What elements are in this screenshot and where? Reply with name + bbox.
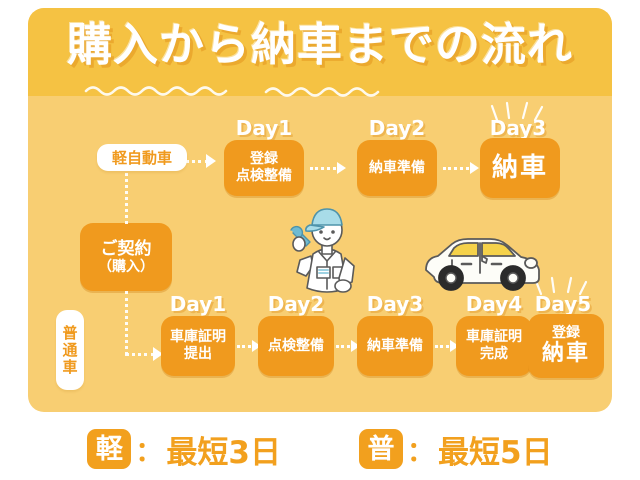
kei-step-2-box: 納車準備 xyxy=(357,140,437,196)
futsu-step-3-box: 納車準備 xyxy=(357,316,433,376)
infographic-root: 購入から納車までの流れ ご契約 （購入） 軽自動車 普通車 Day1 xyxy=(0,0,640,480)
summary-bar: 軽 ： 最短3日 普 ： 最短5日 xyxy=(0,418,640,480)
page-title: 購入から納車までの流れ xyxy=(28,14,612,76)
futsu-step-2-line1: 点検整備 xyxy=(268,338,324,355)
summary-kei: 軽 ： 最短3日 xyxy=(87,427,281,472)
kei-step-2-day: Day2 xyxy=(354,116,440,140)
futsu-step-1-line1: 車庫証明 xyxy=(170,329,226,346)
futsu-step-4-line1: 車庫証明 xyxy=(466,329,522,346)
category-pill-kei-label: 軽自動車 xyxy=(112,147,172,168)
kei-step-2-line1: 納車準備 xyxy=(369,160,425,177)
futsu-step-3-line1: 納車準備 xyxy=(367,338,423,355)
flow-card: 購入から納車までの流れ ご契約 （購入） 軽自動車 普通車 Day1 xyxy=(28,8,612,412)
contract-box: ご契約 （購入） xyxy=(80,223,172,291)
futsu-step-5-line2: 納車 xyxy=(542,341,590,367)
summary-futsu-text: 最短5日 xyxy=(438,427,553,472)
kei-connector-2-3 xyxy=(443,162,479,174)
contract-line2: （購入） xyxy=(98,259,154,276)
category-pill-futsu-label: 普通車 xyxy=(60,325,81,376)
summary-futsu-badge: 普 xyxy=(359,429,403,469)
summary-kei-badge: 軽 xyxy=(87,429,131,469)
futsu-step-1-box: 車庫証明 提出 xyxy=(161,316,235,376)
futsu-step-2-box: 点検整備 xyxy=(258,316,334,376)
kei-connector-1-2 xyxy=(310,162,346,174)
mechanic-character-illustration xyxy=(275,194,379,306)
futsu-step-4-box: 車庫証明 完成 xyxy=(456,316,532,376)
connector-arrow-to-kei xyxy=(206,154,216,168)
summary-futsu-colon: ： xyxy=(407,430,434,469)
futsu-step-1-day: Day1 xyxy=(160,292,236,316)
kei-step-3-line1: 納車 xyxy=(492,153,548,184)
category-pill-futsu: 普通車 xyxy=(56,310,84,390)
car-illustration xyxy=(418,220,548,298)
kei-step-3-box: 納車 xyxy=(480,138,560,198)
kei-step-1-day: Day1 xyxy=(221,116,307,140)
futsu-step-1-line2: 提出 xyxy=(184,346,212,363)
connector-contract-to-futsu-horizontal xyxy=(125,353,155,356)
summary-futsu: 普 ： 最短5日 xyxy=(359,427,553,472)
summary-kei-text: 最短3日 xyxy=(166,427,281,472)
kei-step-1-box: 登録 点検整備 xyxy=(224,140,304,196)
futsu-step-5-box: 登録 納車 xyxy=(528,314,604,378)
kei-step-1-line2: 点検整備 xyxy=(236,168,292,185)
category-pill-kei: 軽自動車 xyxy=(97,144,187,171)
summary-kei-colon: ： xyxy=(135,430,162,469)
futsu-step-4-line2: 完成 xyxy=(480,346,508,363)
contract-line1: ご契約 xyxy=(101,239,152,259)
futsu-step-5-line1: 登録 xyxy=(552,325,580,342)
kei-step-3-day: Day3 xyxy=(475,116,561,140)
kei-step-1-line1: 登録 xyxy=(250,151,278,168)
connector-contract-to-futsu-vertical xyxy=(125,291,128,355)
